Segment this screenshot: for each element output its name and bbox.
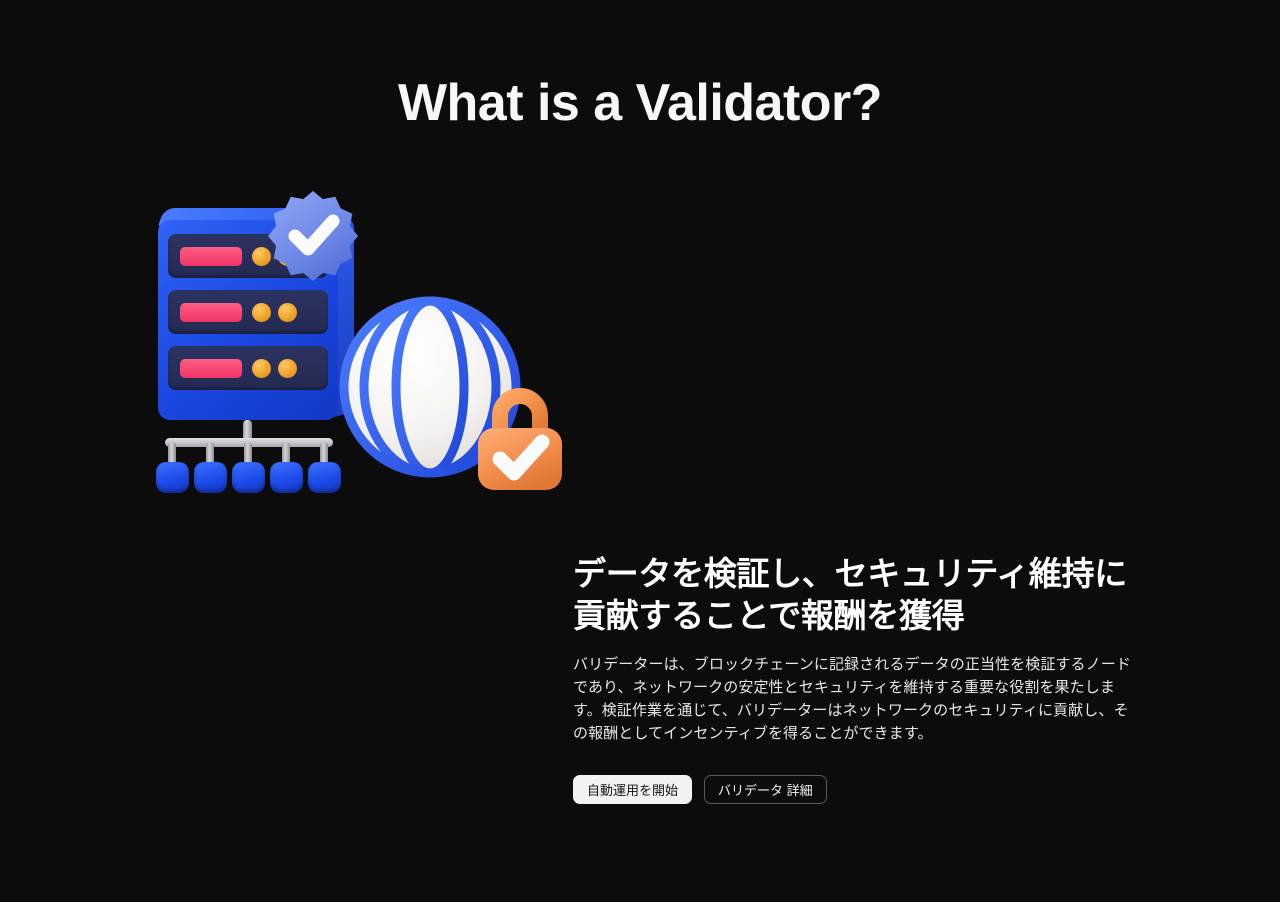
verified-badge-icon [265,188,361,284]
network-node [156,462,189,493]
copy-block: データを検証し、セキュリティ維持に貢献することで報酬を獲得 バリデーターは、ブロ… [573,553,1131,804]
network-node [232,462,265,493]
slot-status-bar [180,247,242,266]
padlock-icon [470,382,570,494]
slot-status-bar [180,359,242,378]
action-buttons: 自動運用を開始 バリデータ 詳細 [573,775,1131,804]
slot-status-bar [180,303,242,322]
page-title: What is a Validator? [0,72,1280,134]
slot-indicator-dot [278,359,297,378]
network-node [194,462,227,493]
validator-details-button[interactable]: バリデータ 詳細 [704,775,827,804]
slot-indicator-dot [252,303,271,322]
network-node [270,462,303,493]
slot-indicator-dot [278,303,297,322]
server-slot [168,290,328,334]
headline: データを検証し、セキュリティ維持に貢献することで報酬を獲得 [573,553,1131,637]
validator-landing-page: What is a Validator? [0,0,1280,902]
slot-indicator-dot [252,359,271,378]
server-slot [168,346,328,390]
body-paragraph: バリデーターは、ブロックチェーンに記録されるデータの正当性を検証するノードであり… [573,653,1131,745]
start-auto-operation-button[interactable]: 自動運用を開始 [573,775,692,804]
validator-3d-illustration [140,170,580,515]
